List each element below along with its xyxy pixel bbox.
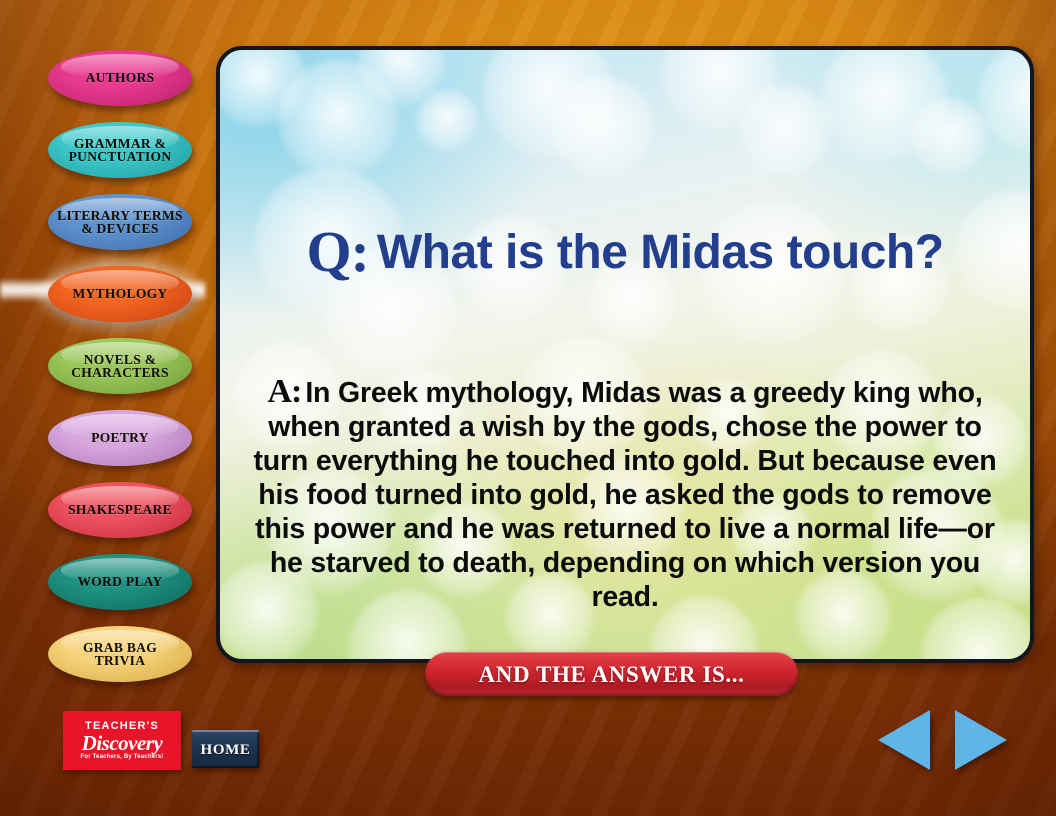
sidebar-item-novels-characters[interactable]: NOVELS & CHARACTERS [48, 338, 192, 394]
triangle-left-icon[interactable] [878, 710, 930, 770]
sidebar-item-label: GRAB BAG TRIVIA [77, 641, 163, 668]
sidebar-item-mythology[interactable]: MYTHOLOGY [48, 266, 192, 322]
sidebar-item-grammar-punctuation[interactable]: GRAMMAR & PUNCTUATION [48, 122, 192, 178]
answer-marker: A: [267, 373, 301, 410]
sidebar-item-literary-terms-devices[interactable]: LITERARY TERMS & DEVICES [48, 194, 192, 250]
sidebar-item-label: NOVELS & CHARACTERS [65, 353, 175, 380]
question-line: Q:What is the Midas touch? [220, 218, 1030, 285]
sidebar-item-poetry[interactable]: POETRY [48, 410, 192, 466]
sidebar-item-shakespeare[interactable]: SHAKESPEARE [48, 482, 192, 538]
question-card: Q:What is the Midas touch? A:In Greek my… [216, 46, 1034, 663]
sidebar-item-label: LITERARY TERMS & DEVICES [51, 209, 189, 236]
question-text: What is the Midas touch? [377, 226, 944, 279]
and-the-answer-is-button[interactable]: AND THE ANSWER IS... [425, 652, 798, 696]
sidebar: AUTHORSGRAMMAR & PUNCTUATIONLITERARY TER… [0, 0, 205, 816]
logo-tagline: For Teachers, By Teachers! [80, 754, 163, 761]
and-the-answer-is-label: AND THE ANSWER IS... [479, 662, 745, 688]
question-marker: Q: [306, 219, 368, 284]
home-button[interactable]: HOME [192, 730, 259, 768]
sidebar-item-label: WORD PLAY [71, 575, 168, 589]
sidebar-item-word-play[interactable]: WORD PLAY [48, 554, 192, 610]
sidebar-item-grab-bag-trivia[interactable]: GRAB BAG TRIVIA [48, 626, 192, 682]
teachers-discovery-logo[interactable]: TEACHER'S Discovery For Teachers, By Tea… [63, 711, 181, 770]
sidebar-item-label: GRAMMAR & PUNCTUATION [63, 137, 178, 164]
sidebar-item-label: MYTHOLOGY [67, 287, 174, 301]
sidebar-item-authors[interactable]: AUTHORS [48, 50, 192, 106]
sidebar-item-label: SHAKESPEARE [62, 503, 178, 517]
logo-line-2: Discovery [82, 733, 163, 753]
home-button-label: HOME [201, 742, 251, 759]
answer-block: A:In Greek mythology, Midas was a greedy… [252, 375, 998, 614]
sidebar-item-label: AUTHORS [80, 71, 161, 85]
triangle-right-icon[interactable] [955, 710, 1007, 770]
sidebar-item-label: POETRY [85, 431, 155, 445]
answer-text: In Greek mythology, Midas was a greedy k… [254, 377, 997, 613]
logo-line-1: TEACHER'S [85, 721, 159, 732]
